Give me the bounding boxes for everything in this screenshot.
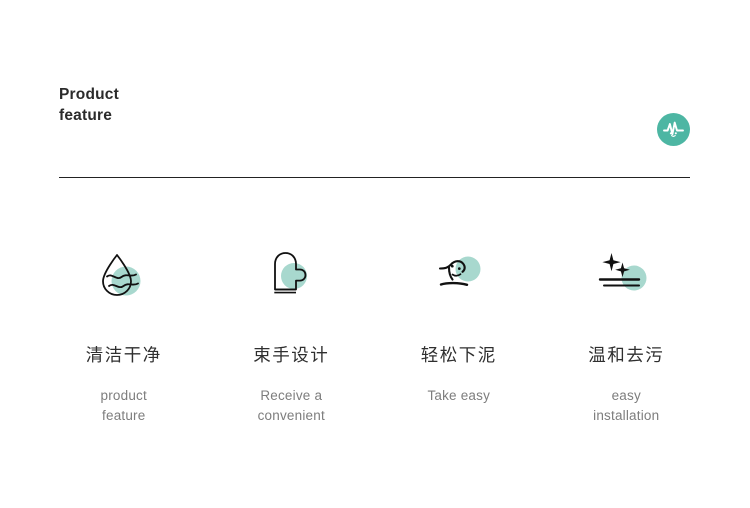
product-feature-page: Product feature [0,0,750,508]
feature-item-wipe: 轻松下泥 Take easy [375,243,543,406]
sparkle-shine-icon [590,243,662,299]
feature-title: 轻松下泥 [421,344,497,368]
feature-title: 束手设计 [253,344,329,368]
feature-subtitle: easy installation [593,386,659,426]
feature-item-shine: 温和去污 easy installation [543,243,711,426]
feature-item-clean: 清洁干净 product feature [40,243,208,426]
feature-title: 温和去污 [588,344,664,368]
header-divider [59,177,690,178]
page-title: Product feature [59,84,690,126]
feature-subtitle: Receive a convenient [258,386,325,426]
feature-subtitle: Take easy [427,386,490,406]
feature-title: 清洁干净 [86,344,162,368]
page-header: Product feature [59,84,690,179]
feature-item-glove: 束手设计 Receive a convenient [208,243,376,426]
wipe-clean-icon [423,243,495,299]
water-drop-icon [88,243,160,299]
pulse-wave-mark-icon [663,121,684,138]
feature-subtitle: product feature [101,386,147,426]
brand-logo [657,113,690,146]
feature-list: 清洁干净 product feature 束手设计 Receive a conv… [40,243,710,426]
mitten-glove-icon [255,243,327,299]
